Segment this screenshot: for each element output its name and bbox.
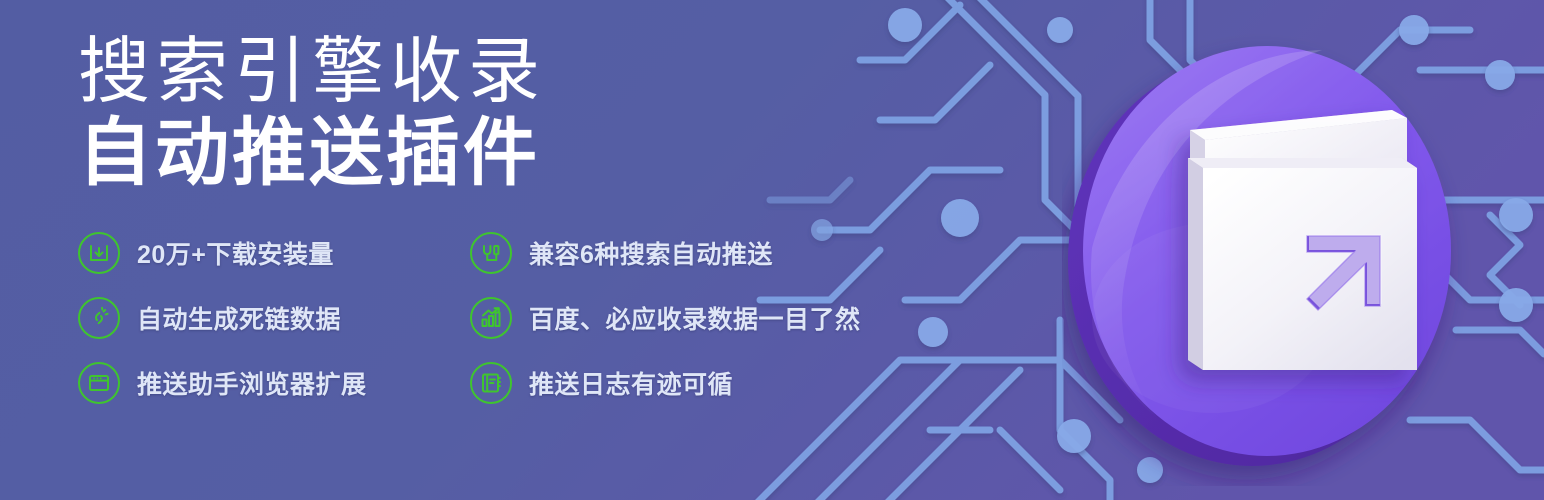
feature-label: 推送日志有迹可循 [529,365,733,401]
feature-label: 20万+下载安装量 [137,235,334,271]
browser-icon [78,362,120,404]
feature-item-dead-links: 自动生成死链数据 [78,297,470,339]
headline-line-2: 自动推送插件 [78,114,1000,192]
bar-chart-icon [470,297,512,339]
headline-line-1: 搜索引擎收录 [78,34,1000,110]
feature-label: 兼容6种搜索自动推送 [529,235,773,271]
feature-item-index-data: 百度、必应收录数据一目了然 [470,297,1000,339]
feature-item-browser-extension: 推送助手浏览器扩展 [78,362,470,404]
feature-label: 百度、必应收录数据一目了然 [529,300,861,336]
feature-item-compatibility: 兼容6种搜索自动推送 [470,232,1000,274]
feature-label: 推送助手浏览器扩展 [137,365,367,401]
promo-banner: 搜索引擎收录 自动推送插件 20万+下载安装量 [0,0,1544,500]
feature-item-downloads: 20万+下载安装量 [78,232,470,274]
broken-link-icon [78,297,120,339]
plug-icon [470,232,512,274]
download-icon [78,232,120,274]
hero-illustration [1062,18,1472,486]
notebook-icon [470,362,512,404]
feature-item-push-log: 推送日志有迹可循 [470,362,1000,404]
feature-label: 自动生成死链数据 [137,300,341,336]
feature-list: 20万+下载安装量 兼容6种搜索自动推送 [78,221,1000,416]
banner-content: 搜索引擎收录 自动推送插件 20万+下载安装量 [0,0,1000,500]
